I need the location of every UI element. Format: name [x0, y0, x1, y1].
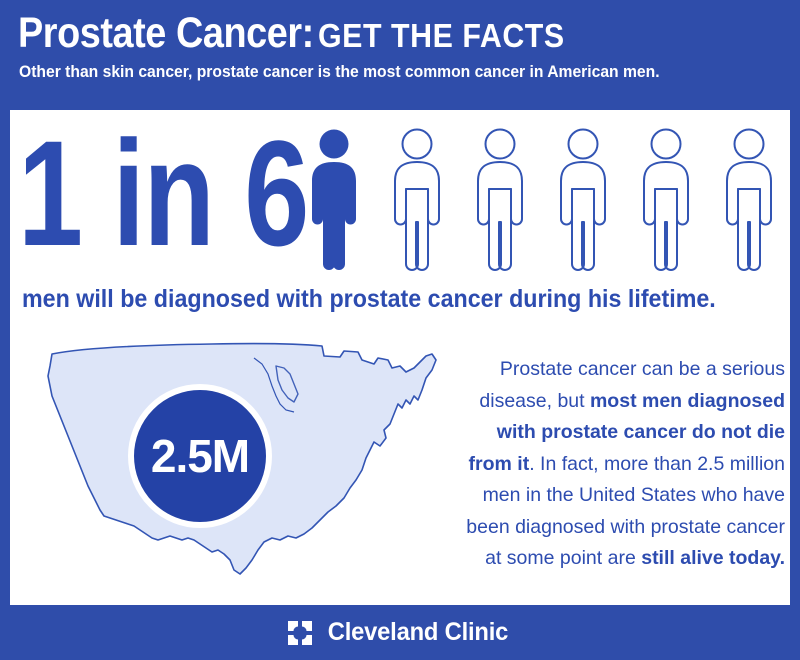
person-figure-icon: [305, 127, 363, 272]
body-segment-3: still alive today.: [641, 547, 785, 569]
body-paragraph: Prostate cancer can be a serious disease…: [450, 354, 785, 575]
page-title-sub: GET THE FACTS: [318, 19, 565, 52]
content-panel: 1 in 6 men will be diagnosed with prosta…: [10, 110, 790, 605]
pictogram-figures: [305, 127, 785, 272]
person-figure-icon: [471, 127, 529, 272]
person-figure-icon: [388, 127, 446, 272]
cleveland-clinic-logo-icon: [287, 620, 313, 646]
infographic-root: Prostate Cancer: GET THE FACTS Other tha…: [0, 0, 800, 660]
stat-headline: 1 in 6: [18, 118, 308, 268]
map-stat-badge: 2.5M: [128, 384, 272, 528]
header-banner: Prostate Cancer: GET THE FACTS Other tha…: [0, 0, 800, 110]
person-figure-icon: [554, 127, 612, 272]
stat-caption: men will be diagnosed with prostate canc…: [22, 285, 716, 314]
map-stat-value: 2.5M: [151, 433, 249, 479]
page-title-main: Prostate Cancer:: [18, 12, 314, 55]
stat-row: 1 in 6: [10, 110, 790, 275]
person-figure-icon: [720, 127, 778, 272]
brand-name: Cleveland Clinic: [328, 620, 508, 645]
united-states-map: 2.5M: [22, 338, 442, 600]
header-subhead: Other than skin cancer, prostate cancer …: [19, 63, 660, 82]
footer-brand: Cleveland Clinic: [0, 605, 800, 660]
person-figure-icon: [637, 127, 695, 272]
page-title: Prostate Cancer: GET THE FACTS: [18, 12, 586, 55]
